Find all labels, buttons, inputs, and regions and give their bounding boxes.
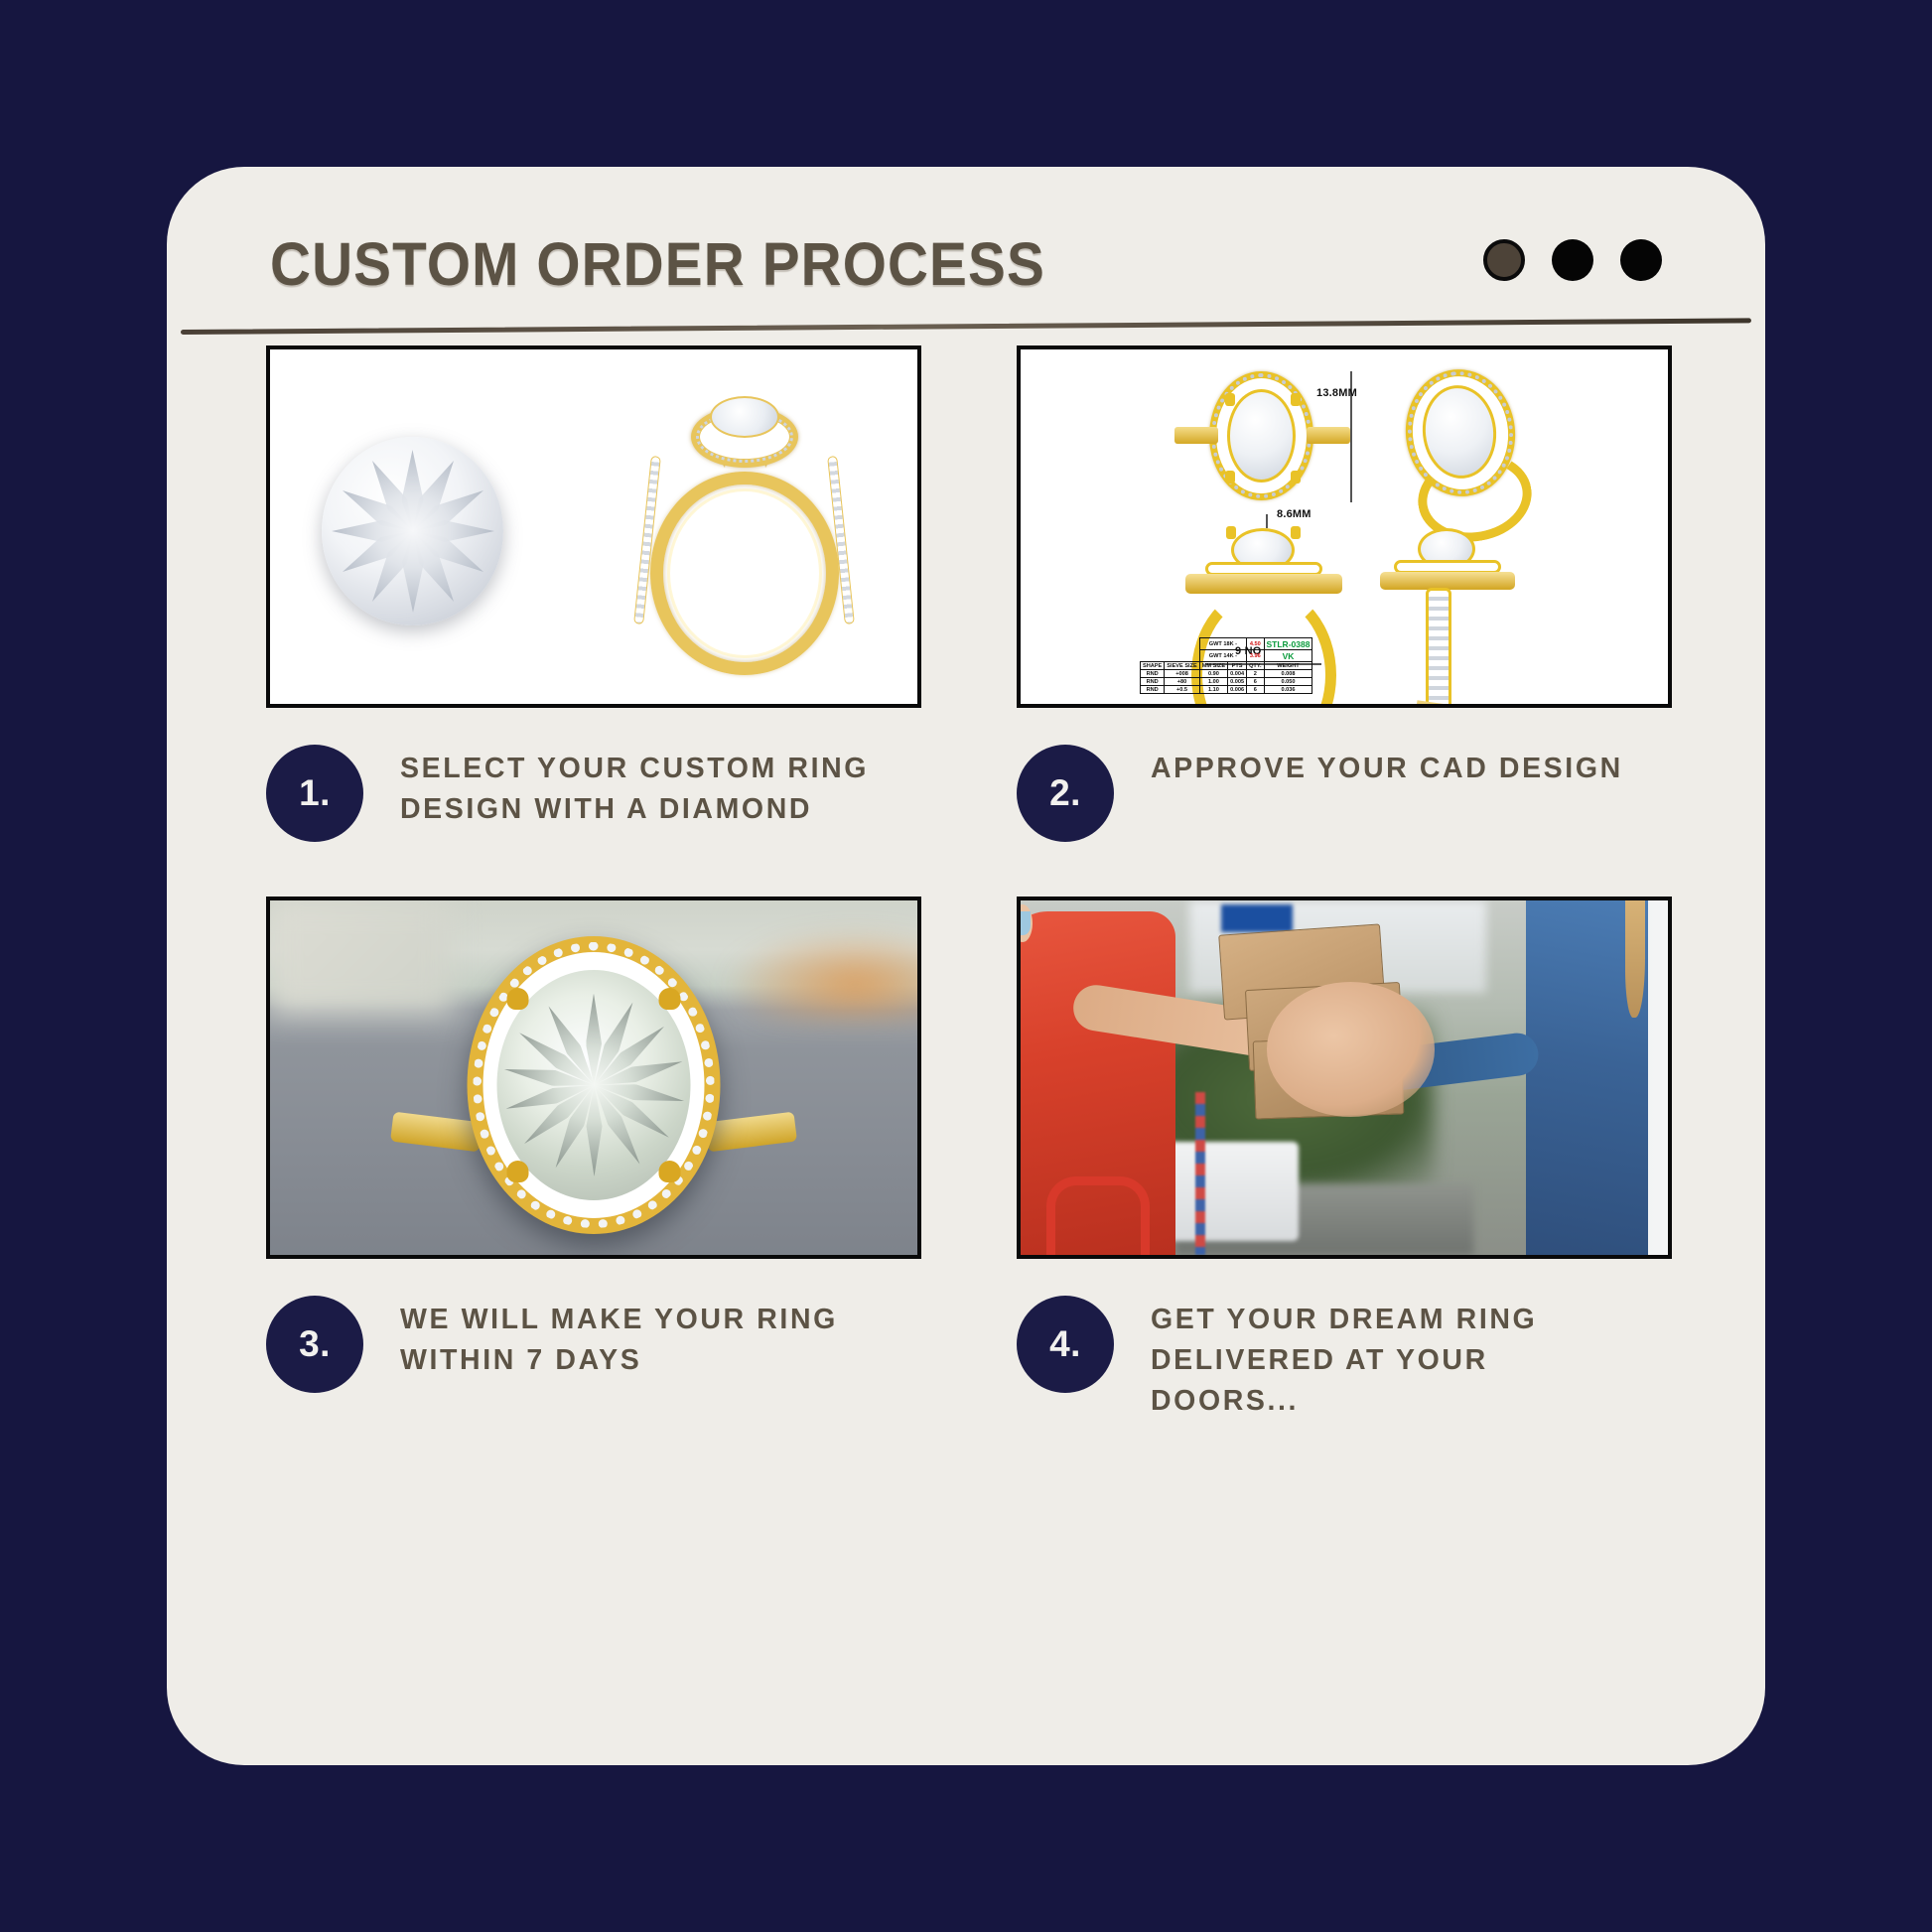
cell-sieve: +008 <box>1165 670 1199 678</box>
step-1-caption: 1. SELECT YOUR CUSTOM RING DESIGN WITH A… <box>266 745 973 842</box>
cad-side-gallery <box>1380 572 1515 590</box>
cell-weight: 0.050 <box>1264 678 1312 686</box>
cell-mm: 0.90 <box>1199 670 1227 678</box>
halo-ring-profile-icon <box>632 394 856 677</box>
loose-diamond-icon <box>322 437 503 625</box>
step-3-image <box>266 897 921 1259</box>
cell-mm: 1.10 <box>1199 686 1227 694</box>
table-row: RND +0.5 1.10 0.006 6 0.036 <box>1141 686 1312 694</box>
cad-prong-icon <box>1225 393 1235 406</box>
cell-qty: 6 <box>1247 678 1264 686</box>
step-3: 3. WE WILL MAKE YOUR RING WITHIN 7 DAYS <box>266 897 973 1393</box>
cad-prong-icon <box>1291 471 1301 483</box>
cad-side-pave-shank <box>1426 588 1451 708</box>
step-4-image <box>1017 897 1672 1259</box>
step-2: 13.8MM 8.6MM 9 NO <box>1017 345 1724 842</box>
cell-pts: 0.005 <box>1228 678 1247 686</box>
cell-sieve: +0.5 <box>1165 686 1199 694</box>
gwt-14k-label: GWT 14K - <box>1199 650 1246 662</box>
step-3-label: WE WILL MAKE YOUR RING WITHIN 7 DAYS <box>400 1300 916 1381</box>
step-1-label: SELECT YOUR CUSTOM RING DESIGN WITH A DI… <box>400 749 916 830</box>
face-mask-icon <box>1017 911 1031 935</box>
col-sieve-size: SIEVE SIZE <box>1165 662 1199 670</box>
cad-view-top-stone <box>1227 389 1296 483</box>
cell-pts: 0.004 <box>1228 670 1247 678</box>
step-4: 4. GET YOUR DREAM RING DELIVERED AT YOUR… <box>1017 897 1724 1422</box>
cell-shape: RND <box>1141 670 1165 678</box>
cell-sieve: +80 <box>1165 678 1199 686</box>
style-code: STLR-0388 <box>1264 638 1312 650</box>
cad-spec-table: GWT 18K - 4.50 STLR-0388 GWT 14K - 3.96 … <box>1140 637 1312 694</box>
step-1-badge: 1. <box>266 745 363 842</box>
gwt-18k-label: GWT 18K - <box>1199 638 1246 650</box>
col-pts: PTS <box>1228 662 1247 670</box>
window-dots <box>1483 239 1662 281</box>
dim-tick-86mm <box>1266 514 1268 528</box>
step-2-label: APPROVE YOUR CAD DESIGN <box>1151 749 1623 789</box>
col-shape: SHAPE <box>1141 662 1165 670</box>
process-card: CUSTOM ORDER PROCESS <box>167 167 1765 1765</box>
step-1-image <box>266 345 921 708</box>
delivery-van <box>1157 1142 1299 1241</box>
cell-qty: 6 <box>1247 686 1264 694</box>
card-header: CUSTOM ORDER PROCESS <box>167 167 1765 370</box>
window-dot-black-1-icon[interactable] <box>1552 239 1593 281</box>
dim-label-138mm: 13.8MM <box>1316 387 1357 399</box>
window-dot-brown-icon[interactable] <box>1483 239 1525 281</box>
cad-prong-icon <box>1291 393 1301 406</box>
bollard-pole <box>1195 1092 1205 1255</box>
designer-initials: VK <box>1264 650 1312 662</box>
street-sign <box>1221 904 1293 933</box>
cell-mm: 1.00 <box>1199 678 1227 686</box>
step-2-badge: 2. <box>1017 745 1114 842</box>
cad-drawing-sheet: 13.8MM 8.6MM 9 NO <box>1021 349 1668 704</box>
gwt-18k-value: 4.50 <box>1247 638 1264 650</box>
gwt-14k-value: 3.96 <box>1247 650 1264 662</box>
step-2-image: 13.8MM 8.6MM 9 NO <box>1017 345 1672 708</box>
step-4-label: GET YOUR DREAM RING DELIVERED AT YOUR DO… <box>1151 1300 1627 1422</box>
customer-figure <box>1526 900 1649 1255</box>
col-qty: QTY. <box>1247 662 1264 670</box>
window-dot-black-2-icon[interactable] <box>1620 239 1662 281</box>
cad-prong-icon <box>1225 471 1235 483</box>
step-4-caption: 4. GET YOUR DREAM RING DELIVERED AT YOUR… <box>1017 1296 1724 1422</box>
step-4-badge: 4. <box>1017 1296 1114 1393</box>
table-row: RND +008 0.90 0.004 2 0.008 <box>1141 670 1312 678</box>
cell-shape: RND <box>1141 678 1165 686</box>
hands-overlap <box>1267 982 1436 1117</box>
cell-shape: RND <box>1141 686 1165 694</box>
col-mm-size: MM SIZE <box>1199 662 1227 670</box>
page-title: CUSTOM ORDER PROCESS <box>270 229 1045 299</box>
cell-pts: 0.006 <box>1228 686 1247 694</box>
table-row: RND +80 1.00 0.005 6 0.050 <box>1141 678 1312 686</box>
cad-band-left <box>1174 427 1218 444</box>
hand-truck <box>1046 1176 1150 1255</box>
cell-qty: 2 <box>1247 670 1264 678</box>
cad-band-right <box>1307 427 1350 444</box>
step-1: 1. SELECT YOUR CUSTOM RING DESIGN WITH A… <box>266 345 973 842</box>
step-3-caption: 3. WE WILL MAKE YOUR RING WITHIN 7 DAYS <box>266 1296 973 1393</box>
cell-weight: 0.008 <box>1264 670 1312 678</box>
step-2-caption: 2. APPROVE YOUR CAD DESIGN <box>1017 745 1724 842</box>
step-3-badge: 3. <box>266 1296 363 1393</box>
col-weight: WEIGHT <box>1264 662 1312 670</box>
dim-label-86mm: 8.6MM <box>1277 508 1311 520</box>
header-divider <box>181 318 1751 335</box>
cad-prong-icon <box>1226 526 1236 539</box>
customer-hair <box>1625 897 1645 1017</box>
finished-ring-photo-icon <box>468 936 721 1234</box>
cell-weight: 0.036 <box>1264 686 1312 694</box>
cad-prong-icon <box>1291 526 1301 539</box>
